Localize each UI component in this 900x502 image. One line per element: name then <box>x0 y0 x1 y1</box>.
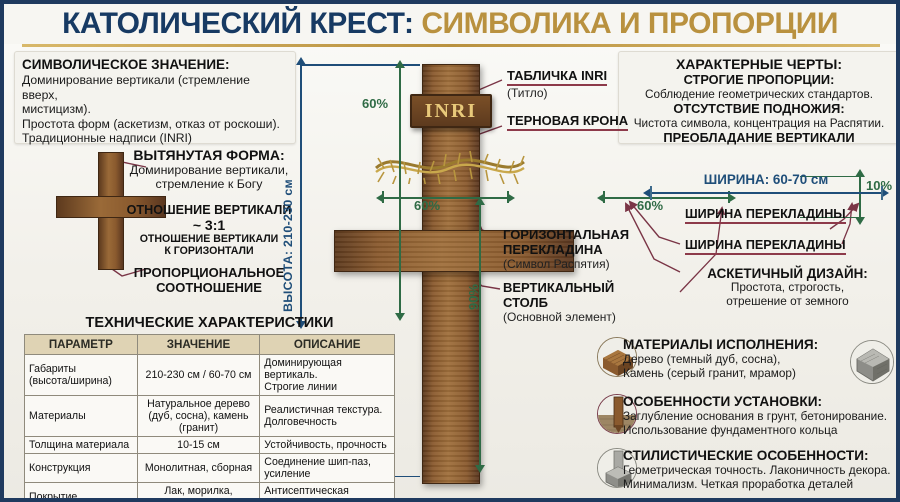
crown-of-thorns-icon <box>370 144 530 184</box>
symbolic-line-1: Доминирование вертикали (стремление ввер… <box>22 73 288 102</box>
inri-label-title: ТАБЛИЧКА INRI <box>507 68 607 86</box>
proportional-line-2: СООТНОШЕНИЕ <box>116 281 302 296</box>
vertical-label-line-2: СТОЛБ <box>503 296 653 311</box>
table-cell-desc: Устойчивость, прочность <box>260 437 395 454</box>
pct-horizontal-left-label: 60% <box>414 198 440 213</box>
proportional-ratio-callout: ПРОПОРЦИОНАЛЬНОЕ СООТНОШЕНИЕ <box>116 266 302 295</box>
pct-horizontal-left-line <box>383 197 508 199</box>
horizontal-label-sub: (Символ Распятия) <box>503 257 653 271</box>
table-cell-value: Монолитная, сборная <box>137 454 260 483</box>
pct-horizontal-right-line <box>604 197 729 199</box>
crossbeam-width-label-2: ШИРИНА ПЕРЕКЛАДИНЫ <box>685 236 846 255</box>
ratio-line-1: ОТНОШЕНИЕ ВЕРТИКАЛИ <box>114 203 304 217</box>
table-cell-param: Покрытие <box>25 483 138 502</box>
technical-specs-table: ПАРАМЕТР ЗНАЧЕНИЕ ОПИСАНИЕ Габариты(высо… <box>24 334 395 502</box>
table-cell-value: 10-15 см <box>137 437 260 454</box>
infographic-page: КАТОЛИЧЕСКИЙ КРЕСТ: СИМВОЛИКА И ПРОПОРЦИ… <box>0 0 900 502</box>
elongated-line-2: стремление к Богу <box>116 177 302 191</box>
proportional-line-1: ПРОПОРЦИОНАЛЬНОЕ <box>116 266 302 281</box>
height-dimension-label: ВЫСОТА: 210-230 см <box>281 179 295 312</box>
width-dimension-label: ШИРИНА: 60-70 см <box>650 172 882 187</box>
feature-installation-line-2: Использование фундаментного кольца <box>623 423 898 437</box>
feature-installation: ОСОБЕННОСТИ УСТАНОВКИ: Заглубление основ… <box>623 394 898 437</box>
ascetic-line-2: отрешение от земного <box>680 295 895 309</box>
table-cell-value: Лак, морилка,золочение <box>137 483 260 502</box>
crossbeam-width-text-2: ШИРИНА ПЕРЕКЛАДИНЫ <box>685 238 846 255</box>
feature-installation-line-1: Заглубление основания в грунт, бетониров… <box>623 409 898 423</box>
table-header-param: ПАРАМЕТР <box>25 335 138 355</box>
symbolic-line-3: Простота форм (аскетизм, отказ от роскош… <box>22 117 288 132</box>
ratio-value: ~ 3:1 <box>114 217 304 233</box>
height-dimension-line <box>300 64 302 322</box>
table-cell-desc: Антисептическаяобработка, декор <box>260 483 395 502</box>
title-part-1: КАТОЛИЧЕСКИЙ КРЕСТ: <box>62 7 413 40</box>
ascetic-heading: АСКЕТИЧНЫЙ ДИЗАЙН: <box>680 266 895 281</box>
feature-materials: МАТЕРИАЛЫ ИСПОЛНЕНИЯ: Дерево (темный дуб… <box>623 337 853 380</box>
table-cell-param: Габариты(высота/ширина) <box>25 355 138 396</box>
crossbeam-width-label-1: ШИРИНА ПЕРЕКЛАДИНЫ <box>685 205 846 224</box>
title-part-2: СИМВОЛИКА И ПРОПОРЦИИ <box>421 7 838 40</box>
table-cell-param: Конструкция <box>25 454 138 483</box>
technical-specs-section: ТЕХНИЧЕСКИЕ ХАРАКТЕРИСТИКИ ПАРАМЕТР ЗНАЧ… <box>24 315 395 502</box>
table-cell-param: Материалы <box>25 396 138 437</box>
traits-text-1: Соблюдение геометрических стандартов. <box>626 87 892 101</box>
table-body: Габариты(высота/ширина)210-230 см / 60-7… <box>25 355 395 502</box>
feature-materials-heading: МАТЕРИАЛЫ ИСПОЛНЕНИЯ: <box>623 337 853 352</box>
table-cell-desc: Реалистичная текстура.Долговечность <box>260 396 395 437</box>
page-title: КАТОЛИЧЕСКИЙ КРЕСТ: СИМВОЛИКА И ПРОПОРЦИ… <box>62 7 838 41</box>
gold-divider <box>22 44 880 47</box>
table-title: ТЕХНИЧЕСКИЕ ХАРАКТЕРИСТИКИ <box>24 315 395 331</box>
ratio-line-3: ОТНОШЕНИЕ ВЕРТИКАЛИ <box>114 233 304 245</box>
table-header-value: ЗНАЧЕНИЕ <box>137 335 260 355</box>
pct-vertical-top-label: 60% <box>362 96 388 111</box>
feature-installation-heading: ОСОБЕННОСТИ УСТАНОВКИ: <box>623 394 898 409</box>
table-row: Толщина материала10-15 смУстойчивость, п… <box>25 437 395 454</box>
elongated-line-1: Доминирование вертикали, <box>116 163 302 177</box>
table-row: ПокрытиеЛак, морилка,золочениеАнтисептич… <box>25 483 395 502</box>
feature-style: СТИЛИСТИЧЕСКИЕ ОСОБЕННОСТИ: Геометрическ… <box>623 448 898 491</box>
ascetic-line-1: Простота, строгость, <box>680 281 895 295</box>
crossbeam-width-text-1: ШИРИНА ПЕРЕКЛАДИНЫ <box>685 207 846 224</box>
page-header: КАТОЛИЧЕСКИЙ КРЕСТ: СИМВОЛИКА И ПРОПОРЦИ… <box>4 4 896 44</box>
table-row: МатериалыНатуральное дерево(дуб, сосна),… <box>25 396 395 437</box>
inri-label: ТАБЛИЧКА INRI (Титло) <box>507 67 657 100</box>
width-dim-right-tick <box>881 186 883 200</box>
table-row: КонструкцияМонолитная, сборнаяСоединение… <box>25 454 395 483</box>
symbolic-line-4: Традиционные надписи (INRI) <box>22 131 288 146</box>
feature-style-line-1: Геометрическая точность. Лаконичность де… <box>623 463 898 477</box>
feature-style-heading: СТИЛИСТИЧЕСКИЕ ОСОБЕННОСТИ: <box>623 448 898 463</box>
traits-heading: ХАРАКТЕРНЫЕ ЧЕРТЫ: <box>626 56 892 72</box>
table-header-desc: ОПИСАНИЕ <box>260 335 395 355</box>
crown-label-title: ТЕРНОВАЯ КРОНА <box>507 113 628 131</box>
table-header-row: ПАРАМЕТР ЗНАЧЕНИЕ ОПИСАНИЕ <box>25 335 395 355</box>
pct-left-tick-b <box>507 191 509 203</box>
crown-label: ТЕРНОВАЯ КРОНА <box>507 112 667 131</box>
symbolic-meaning-panel: СИМВОЛИЧЕСКОЕ ЗНАЧЕНИЕ: Доминирование ве… <box>14 51 296 144</box>
width-dimension-line <box>650 192 882 194</box>
horizontal-beam-label: ГОРИЗОНТАЛЬНАЯ ПЕРЕКЛАДИНА (Символ Распя… <box>503 228 653 271</box>
table-cell-desc: Соединение шип-паз,усиление <box>260 454 395 483</box>
symbolic-heading: СИМВОЛИЧЕСКОЕ ЗНАЧЕНИЕ: <box>22 57 288 72</box>
pct-right-tick-a <box>603 191 605 203</box>
vertical-label-sub: (Основной элемент) <box>503 310 653 324</box>
horizontal-label-line-2: ПЕРЕКЛАДИНА <box>503 243 653 258</box>
feature-materials-line-2: Камень (серый гранит, мрамор) <box>623 366 853 380</box>
pct-vertical-main-label: 90% <box>466 284 481 310</box>
table-cell-param: Толщина материала <box>25 437 138 454</box>
table-cell-desc: Доминирующая вертикаль.Строгие линии <box>260 355 395 396</box>
traits-sub-1: СТРОГИЕ ПРОПОРЦИИ: <box>626 72 892 87</box>
table-cell-value: Натуральное дерево(дуб, сосна), камень(г… <box>137 396 260 437</box>
table-row: Габариты(высота/ширина)210-230 см / 60-7… <box>25 355 395 396</box>
symbolic-line-2: мистицизм). <box>22 102 288 117</box>
elongated-form-callout: ВЫТЯНУТАЯ ФОРМА: Доминирование вертикали… <box>116 147 302 192</box>
ratio-line-4: К ГОРИЗОНТАЛИ <box>114 245 304 257</box>
traits-sub-3: ПРЕОБЛАДАНИЕ ВЕРТИКАЛИ <box>626 130 892 145</box>
inri-label-sub: (Титло) <box>507 86 657 100</box>
vertical-label-line-1: ВЕРТИКАЛЬНЫЙ <box>503 281 653 296</box>
inri-plaque: INRI <box>410 94 492 128</box>
horizontal-label-line-1: ГОРИЗОНТАЛЬНАЯ <box>503 228 653 243</box>
vertical-post-label: ВЕРТИКАЛЬНЫЙ СТОЛБ (Основной элемент) <box>503 281 653 324</box>
feature-materials-line-1: Дерево (темный дуб, сосна), <box>623 352 853 366</box>
pct-left-tick-a <box>382 191 384 203</box>
pct-vertical-main-line <box>479 204 481 466</box>
table-cell-value: 210-230 см / 60-70 см <box>137 355 260 396</box>
inri-plaque-text: INRI <box>425 100 477 123</box>
pct-horizontal-right-label: 60% <box>637 198 663 213</box>
stone-cube-icon <box>850 340 894 384</box>
width-dim-left-tick <box>650 186 652 200</box>
ratio-callout: ОТНОШЕНИЕ ВЕРТИКАЛИ ~ 3:1 ОТНОШЕНИЕ ВЕРТ… <box>114 203 304 257</box>
pct-vertical-top-line <box>399 67 401 314</box>
feature-style-line-2: Минимализм. Четкая проработка деталей <box>623 477 898 491</box>
elongated-heading: ВЫТЯНУТАЯ ФОРМА: <box>116 147 302 163</box>
ascetic-design-callout: АСКЕТИЧНЫЙ ДИЗАЙН: Простота, строгость, … <box>680 266 895 308</box>
